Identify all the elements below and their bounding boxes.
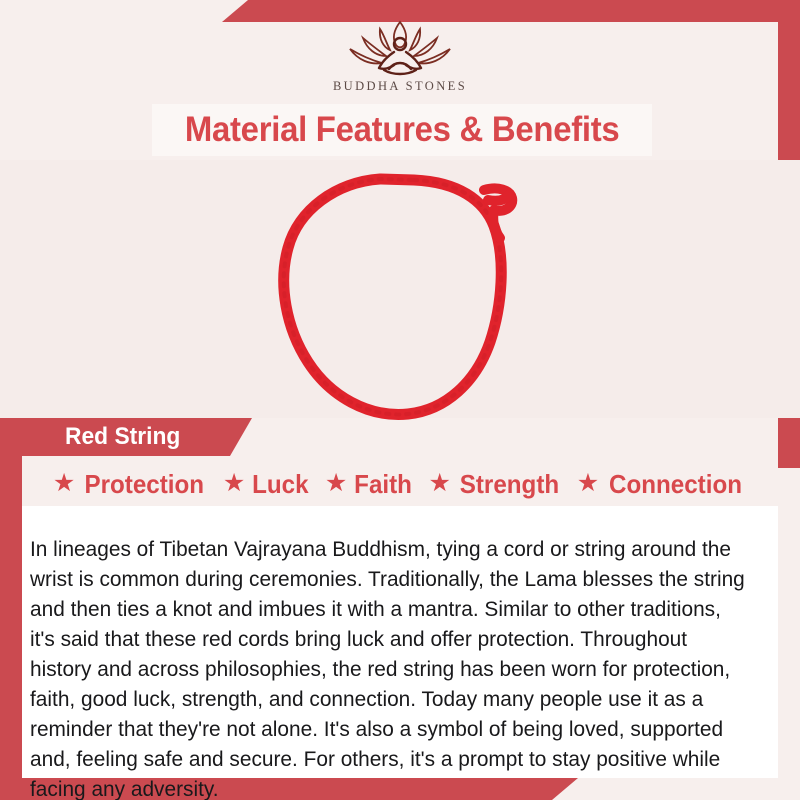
benefit-label: Luck (252, 469, 308, 500)
page-title-band: Material Features & Benefits (152, 104, 652, 156)
star-icon: ★ (577, 471, 599, 496)
brand-name: BUDDHA STONES (333, 79, 467, 94)
description-text: In lineages of Tibetan Vajrayana Buddhis… (30, 534, 746, 800)
star-icon: ★ (428, 471, 450, 496)
benefits-row: ★ Protection ★ Luck ★ Faith ★ Strength ★… (22, 462, 778, 506)
star-icon: ★ (325, 471, 347, 496)
frame-bar-left (0, 415, 22, 800)
product-image-area (0, 160, 800, 418)
page-title: Material Features & Benefits (185, 110, 620, 150)
benefit-label: Connection (609, 469, 742, 500)
benefit-item: ★ Strength (423, 469, 567, 500)
benefit-label: Faith (355, 469, 413, 500)
benefit-item: ★ Luck (218, 469, 316, 500)
brand-logo: BUDDHA STONES (0, 16, 800, 104)
benefit-item: ★ Connection (572, 469, 752, 500)
red-braided-string-bracelet-image (262, 166, 552, 436)
benefit-item: ★ Faith (320, 469, 420, 500)
star-icon: ★ (53, 471, 75, 496)
material-features-poster: BUDDHA STONES Material Features & Benefi… (0, 0, 800, 800)
benefit-item: ★ Protection (48, 469, 214, 500)
product-label-banner: Red String (0, 418, 252, 456)
benefit-label: Strength (460, 469, 559, 500)
product-label: Red String (65, 423, 180, 451)
lotus-meditation-icon (334, 16, 466, 78)
benefit-label: Protection (85, 469, 205, 500)
description-panel: In lineages of Tibetan Vajrayana Buddhis… (22, 506, 778, 778)
star-icon: ★ (223, 471, 245, 496)
